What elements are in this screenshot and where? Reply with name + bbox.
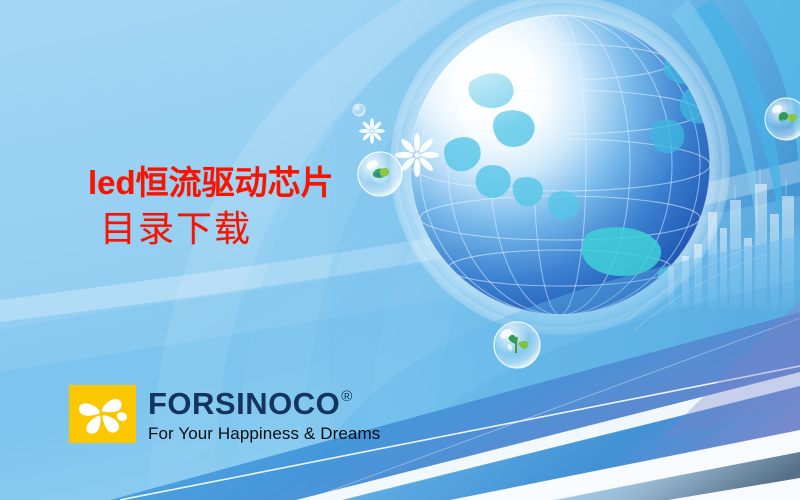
bubble-sprout [494, 322, 540, 368]
four-petal-pinwheel-icon [69, 385, 136, 443]
bubble-tiny [353, 104, 365, 116]
registered-trademark-icon: ® [341, 389, 353, 404]
logo-text-block: FORSINOCO® For Your Happiness & Dreams [148, 385, 380, 442]
headline-block: led恒流驱动芯片 目录下载 [88, 166, 334, 249]
brand-logo[interactable]: FORSINOCO® For Your Happiness & Dreams [69, 385, 380, 443]
banner-canvas: led恒流驱动芯片 目录下载 [0, 0, 800, 500]
headline-line-2: 目录下载 [100, 211, 334, 249]
tagline: For Your Happiness & Dreams [148, 425, 380, 442]
wordmark-text: FORSINOCO [148, 388, 340, 419]
wordmark: FORSINOCO® [148, 388, 380, 419]
bubble-globe [358, 152, 402, 196]
headline-line-1: led恒流驱动芯片 [88, 166, 334, 201]
bubble-leaf-right [765, 98, 800, 140]
white-flower-small [359, 118, 385, 144]
